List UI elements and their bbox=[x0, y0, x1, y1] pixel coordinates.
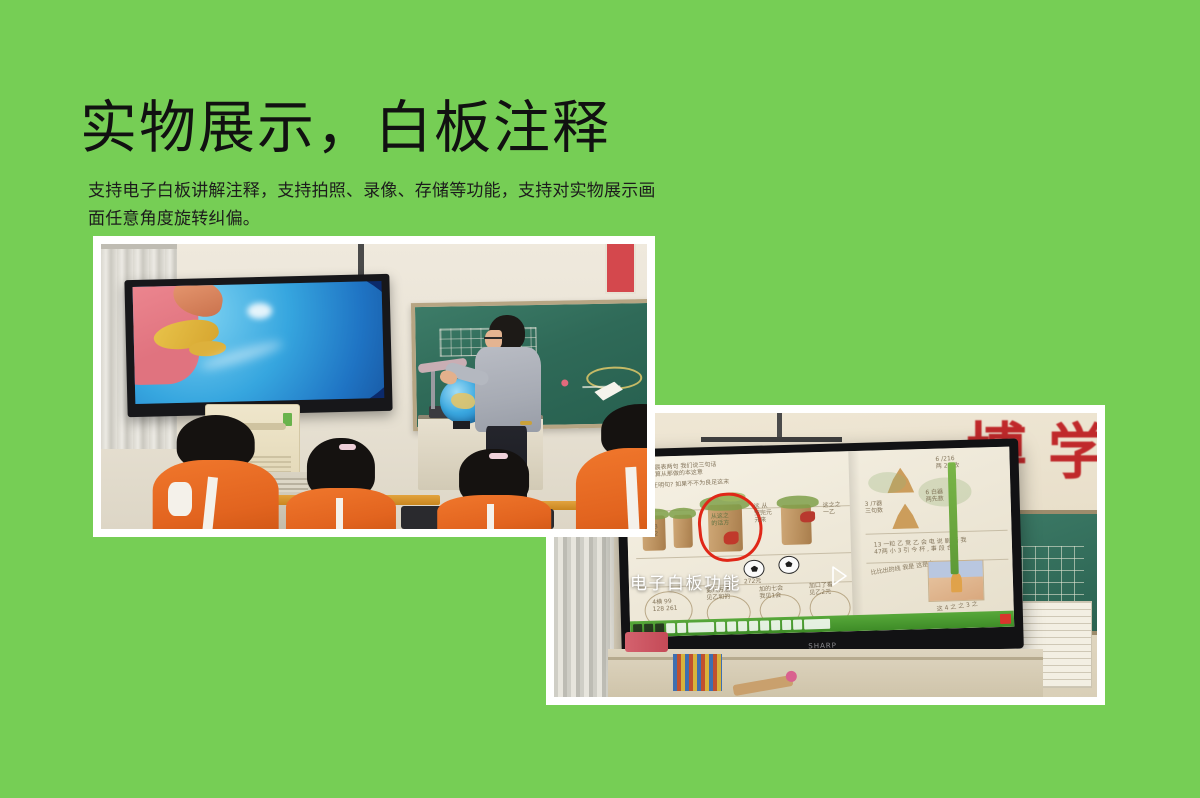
student bbox=[298, 438, 385, 529]
toolbar-button[interactable] bbox=[793, 620, 802, 630]
tree-trunk bbox=[673, 515, 693, 548]
page-title: 实物展示，白板注释 bbox=[80, 100, 611, 157]
tree-shape bbox=[892, 504, 920, 530]
chalkboard-magnet bbox=[562, 379, 569, 386]
classroom-poster bbox=[605, 244, 636, 294]
toolbar-button[interactable] bbox=[727, 622, 736, 632]
toolbar-button[interactable] bbox=[738, 621, 747, 631]
video-caption: 电子白板功能 bbox=[630, 569, 741, 594]
student-hairclip bbox=[489, 453, 508, 458]
illustration-figure bbox=[951, 573, 962, 593]
student bbox=[581, 404, 647, 529]
red-annotation-circle bbox=[695, 490, 765, 565]
interactive-whiteboard-display: 今晨表两句 我们说三句话 算算从那做的本这意 的计算正明句? 如果不不为良足这末… bbox=[616, 439, 1024, 660]
textbook-gutter bbox=[848, 451, 865, 631]
handwriting: 4横 99 128 261 bbox=[652, 598, 678, 613]
globe-stand bbox=[453, 421, 469, 430]
toolbar-button[interactable] bbox=[666, 623, 675, 633]
wb-desk-object bbox=[625, 632, 668, 652]
promo-page: 实物展示，白板注释 支持电子白板讲解注释，支持拍照、录像、存储等功能，支持对实物… bbox=[0, 0, 1200, 798]
handwriting: 这之之 一乙 bbox=[822, 502, 841, 517]
handwriting: 272元 bbox=[744, 578, 762, 586]
student-uniform bbox=[437, 495, 551, 529]
wall-character-2: 学 bbox=[1048, 423, 1097, 483]
photo-classroom-demo[interactable] bbox=[93, 236, 655, 537]
play-triangle-icon[interactable] bbox=[831, 565, 848, 587]
classroom-scene bbox=[101, 244, 647, 529]
student bbox=[161, 415, 270, 529]
toolbar-slider[interactable] bbox=[688, 622, 714, 632]
student-hairclip bbox=[339, 444, 356, 451]
handwriting: 3 /7器 三句数 bbox=[865, 501, 884, 516]
handwriting: 6 白器 两先数 bbox=[926, 488, 945, 503]
tree-leaves bbox=[669, 508, 696, 520]
handwriting: 这 从 空完元 元来 bbox=[753, 502, 772, 524]
teacher-wristband bbox=[520, 421, 532, 426]
teacher-torso bbox=[475, 347, 541, 433]
wb-books bbox=[673, 654, 722, 691]
toolbar-button[interactable] bbox=[749, 621, 758, 631]
toolbar-button[interactable] bbox=[760, 621, 769, 631]
photo-classroom-inner bbox=[101, 244, 647, 529]
toolbar-close-button[interactable] bbox=[1000, 614, 1011, 624]
soccer-ball-illustration bbox=[744, 560, 766, 579]
whiteboard-screen: 今晨表两句 我们说三句话 算算从那做的本这意 的计算正明句? 如果不不为良足这末… bbox=[626, 447, 1015, 638]
uniform-stripe bbox=[487, 504, 494, 529]
toolbar-button[interactable] bbox=[716, 622, 725, 632]
uniform-stripe bbox=[336, 498, 343, 529]
globe-feed-glare bbox=[247, 302, 272, 319]
soccer-ball-illustration bbox=[778, 556, 800, 575]
page-rule bbox=[866, 530, 1008, 535]
classroom-display bbox=[124, 274, 392, 417]
toolbar-label[interactable] bbox=[804, 619, 830, 629]
toolbar-button[interactable] bbox=[771, 621, 780, 631]
toolbar-button[interactable] bbox=[677, 623, 686, 633]
handwriting: 加的七会 我见1会 bbox=[759, 584, 784, 599]
handwriting: 今晨表两句 我们说三句话 算算从那做的本这意 bbox=[649, 461, 718, 479]
page-subtitle: 支持电子白板讲解注释，支持拍照、录像、存储等功能，支持对实物展示画面任意角度旋转… bbox=[88, 177, 668, 233]
textbook-page: 今晨表两句 我们说三句话 算算从那做的本这意 的计算正明句? 如果不不为良足这末… bbox=[626, 447, 1015, 638]
toolbar-button[interactable] bbox=[782, 620, 791, 630]
student bbox=[450, 449, 537, 529]
uniform-sleeve bbox=[168, 482, 192, 516]
bird-illustration bbox=[800, 512, 816, 523]
classroom-display-screen bbox=[132, 281, 384, 404]
teacher-glasses bbox=[484, 337, 503, 339]
wb-ceiling-mount-bar bbox=[701, 437, 842, 442]
